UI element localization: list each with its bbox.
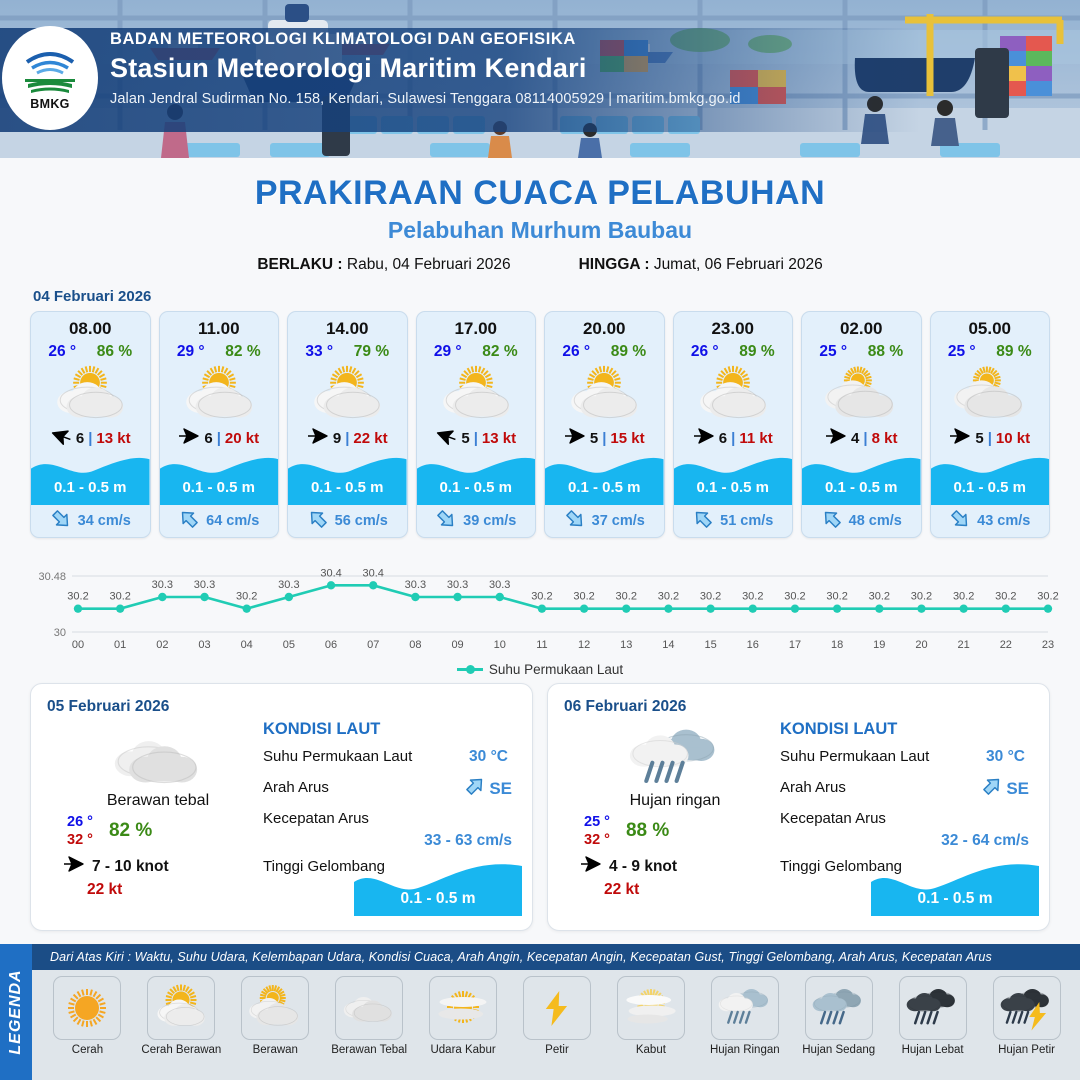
card-time: 11.00 — [160, 312, 279, 339]
daily-summary: Hujan ringan 25 ° 32 ° 88 % 4 - 9 knot 2… — [570, 728, 780, 899]
current-speed-value: 33 - 63 cm/s — [424, 832, 512, 850]
card-current: 37 cm/s — [545, 505, 664, 537]
legenda-item-label: Cerah — [72, 1044, 103, 1056]
svg-text:30.2: 30.2 — [236, 591, 257, 603]
wind-direction-icon — [307, 428, 329, 449]
current-speed-label: Kecepatan Arus — [780, 810, 886, 827]
legenda-item-label: Hujan Petir — [998, 1044, 1055, 1056]
current-direction-icon — [50, 508, 72, 535]
sst-value: 30 °C — [986, 748, 1025, 766]
svg-text:30.2: 30.2 — [573, 591, 594, 603]
current-direction-icon — [178, 508, 200, 535]
weather-icon-udara-kabur — [429, 976, 497, 1040]
card-temp-humidity: 26 ° 86 % — [31, 339, 150, 361]
sst-chart: 30.483030.20030.20130.30230.30330.20430.… — [20, 550, 1060, 660]
valid-from: BERLAKU : Rabu, 04 Februari 2026 — [257, 256, 510, 274]
legenda-item: Berawan — [230, 976, 321, 1056]
card-current: 48 cm/s — [802, 505, 921, 537]
wind-gust: 22 kt — [353, 430, 387, 447]
forecast-card: 11.00 29 ° 82 % 6 | 20 kt 0.1 - 0. — [159, 311, 280, 538]
current-direction-icon — [821, 508, 843, 535]
legenda-item: Hujan Lebat — [887, 976, 978, 1056]
card-time: 23.00 — [674, 312, 793, 339]
card-time: 08.00 — [31, 312, 150, 339]
daily-gust: 22 kt — [570, 881, 780, 899]
card-temp-humidity: 33 ° 79 % — [288, 339, 407, 361]
daily-panel: 05 Februari 2026 Berawan tebal 26 ° 32 °… — [30, 683, 533, 931]
weather-icon-cerah-berawan — [31, 361, 150, 423]
current-speed: 34 cm/s — [78, 513, 131, 529]
legenda-item: Hujan Ringan — [699, 976, 790, 1056]
svg-text:30.2: 30.2 — [742, 591, 763, 603]
card-temperature: 26 ° — [48, 343, 76, 361]
card-wave: 0.1 - 0.5 m — [31, 453, 150, 505]
wind-separator: | — [474, 430, 478, 447]
daily-wind-speed: 4 - 9 knot — [609, 858, 677, 876]
svg-text:23: 23 — [1042, 639, 1054, 651]
svg-text:30.2: 30.2 — [1037, 591, 1058, 603]
card-wave: 0.1 - 0.5 m — [417, 453, 536, 505]
card-humidity: 89 % — [739, 343, 774, 361]
weather-icon-berawan-tebal — [53, 728, 263, 786]
svg-text:30.48: 30.48 — [38, 571, 66, 583]
bmkg-logo-text: BMKG — [30, 97, 69, 111]
daily-date: 05 Februari 2026 — [47, 698, 516, 716]
legenda-item-label: Udara Kabur — [430, 1044, 495, 1056]
daily-wave-graphic: 0.1 - 0.5 m — [354, 862, 522, 916]
daily-wind: 4 - 9 knot — [570, 856, 780, 877]
wind-speed: 5 — [461, 430, 469, 447]
forecast-card: 05.00 25 ° 89 % 5 | 10 kt 0.1 - 0. — [930, 311, 1051, 538]
legenda-item: Petir — [512, 976, 603, 1056]
legenda-item: Cerah — [42, 976, 133, 1056]
wind-direction-icon — [178, 428, 200, 449]
current-speed-row: Kecepatan Arus 32 - 64 cm/s — [780, 810, 1035, 832]
current-direction-icon — [692, 508, 714, 535]
current-speed-value: 32 - 64 cm/s — [941, 832, 1029, 850]
weather-icon-cerah-berawan — [545, 361, 664, 423]
svg-text:30.2: 30.2 — [67, 591, 88, 603]
wind-speed: 6 — [204, 430, 212, 447]
legenda-item-label: Berawan — [253, 1044, 298, 1056]
daily-temp-max: 32 ° — [67, 832, 93, 848]
legenda-body: Dari Atas Kiri : Waktu, Suhu Udara, Kele… — [32, 944, 1080, 1080]
current-direction-row: Arah Arus SE — [263, 779, 518, 801]
daily-condition: Hujan ringan — [570, 792, 780, 810]
svg-text:12: 12 — [578, 639, 590, 651]
weather-icon-hujan-lebat — [899, 976, 967, 1040]
svg-text:30.2: 30.2 — [953, 591, 974, 603]
wind-separator: | — [731, 430, 735, 447]
legenda-item-label: Hujan Ringan — [710, 1044, 780, 1056]
svg-text:13: 13 — [620, 639, 632, 651]
card-humidity: 88 % — [868, 343, 903, 361]
weather-icon-cerah-berawan — [417, 361, 536, 423]
svg-text:07: 07 — [367, 639, 379, 651]
svg-text:30.3: 30.3 — [489, 579, 510, 591]
daily-wind: 7 - 10 knot — [53, 856, 263, 877]
sea-condition-block: KONDISI LAUT Suhu Permukaan Laut 30 °C A… — [263, 720, 518, 880]
current-direction-value-group: SE — [981, 775, 1029, 802]
svg-text:00: 00 — [72, 639, 84, 651]
legenda-item: Udara Kabur — [418, 976, 509, 1056]
svg-text:14: 14 — [662, 639, 674, 651]
wind-speed: 5 — [590, 430, 598, 447]
card-wind: 4 | 8 kt — [802, 423, 921, 453]
card-current: 39 cm/s — [417, 505, 536, 537]
legenda-item-label: Hujan Lebat — [902, 1044, 964, 1056]
wind-speed: 6 — [719, 430, 727, 447]
daily-temp-range: 25 ° 32 ° — [584, 814, 610, 848]
page-subtitle: Pelabuhan Murhum Baubau — [0, 217, 1080, 244]
wave-height: 0.1 - 0.5 m — [674, 479, 793, 496]
legenda-item: Berawan Tebal — [324, 976, 415, 1056]
forecast-card: 20.00 26 ° 89 % 5 | 15 kt 0.1 - 0. — [544, 311, 665, 538]
wind-speed: 4 — [851, 430, 859, 447]
daily-humidity: 82 % — [109, 820, 152, 842]
current-speed-label: Kecepatan Arus — [263, 810, 369, 827]
card-wave: 0.1 - 0.5 m — [931, 453, 1050, 505]
current-speed: 56 cm/s — [335, 513, 388, 529]
wind-gust: 8 kt — [872, 430, 898, 447]
daily-wave-graphic: 0.1 - 0.5 m — [871, 862, 1039, 916]
weather-icon-kabut — [617, 976, 685, 1040]
daily-panel-list: 05 Februari 2026 Berawan tebal 26 ° 32 °… — [0, 677, 1080, 931]
current-direction-icon — [949, 508, 971, 535]
daily-gust: 22 kt — [53, 881, 263, 899]
wind-speed: 5 — [975, 430, 983, 447]
card-wind: 5 | 13 kt — [417, 423, 536, 453]
daily-temp-min: 25 ° — [584, 814, 610, 830]
card-wind: 5 | 10 kt — [931, 423, 1050, 453]
sea-condition-title: KONDISI LAUT — [263, 720, 518, 739]
wind-gust: 13 kt — [482, 430, 516, 447]
svg-text:01: 01 — [114, 639, 126, 651]
wind-direction-icon — [63, 856, 85, 877]
wind-separator: | — [217, 430, 221, 447]
wind-gust: 11 kt — [739, 430, 772, 447]
daily-wave-value: 0.1 - 0.5 m — [354, 890, 522, 908]
card-temp-humidity: 25 ° 89 % — [931, 339, 1050, 361]
weather-icon-hujan-petir — [993, 976, 1061, 1040]
weather-icon-hujan-ringan — [570, 728, 780, 786]
title-block: PRAKIRAAN CUACA PELABUHAN Pelabuhan Murh… — [0, 174, 1080, 274]
card-wind: 6 | 11 kt — [674, 423, 793, 453]
sea-condition-block: KONDISI LAUT Suhu Permukaan Laut 30 °C A… — [780, 720, 1035, 880]
svg-text:16: 16 — [747, 639, 759, 651]
wind-separator: | — [863, 430, 867, 447]
card-temp-humidity: 29 ° 82 % — [160, 339, 279, 361]
card-humidity: 82 % — [482, 343, 517, 361]
card-temperature: 29 ° — [434, 343, 462, 361]
daily-temp-humidity: 26 ° 32 ° 82 % — [53, 814, 263, 848]
svg-text:30.2: 30.2 — [995, 591, 1016, 603]
agency-name: BADAN METEOROLOGI KLIMATOLOGI DAN GEOFIS… — [110, 30, 741, 49]
svg-text:30.3: 30.3 — [152, 579, 173, 591]
station-name: Stasiun Meteorologi Maritim Kendari — [110, 53, 741, 84]
current-direction-icon — [981, 775, 1003, 802]
page-header: BMKG BADAN METEOROLOGI KLIMATOLOGI DAN G… — [0, 0, 1080, 158]
sst-row: Suhu Permukaan Laut 30 °C — [780, 748, 1035, 770]
daily-date: 06 Februari 2026 — [564, 698, 1033, 716]
card-current: 64 cm/s — [160, 505, 279, 537]
card-temp-humidity: 26 ° 89 % — [545, 339, 664, 361]
svg-text:21: 21 — [958, 639, 970, 651]
card-time: 14.00 — [288, 312, 407, 339]
legenda-item: Hujan Sedang — [793, 976, 884, 1056]
forecast-card: 02.00 25 ° 88 % 4 | 8 kt 0.1 - 0.5 — [801, 311, 922, 538]
daily-wind-speed: 7 - 10 knot — [92, 858, 169, 876]
svg-text:30.2: 30.2 — [616, 591, 637, 603]
legenda-item: Cerah Berawan — [136, 976, 227, 1056]
svg-text:30.2: 30.2 — [869, 591, 890, 603]
current-direction-row: Arah Arus SE — [780, 779, 1035, 801]
svg-text:08: 08 — [409, 639, 421, 651]
daily-temp-range: 26 ° 32 ° — [67, 814, 93, 848]
svg-text:04: 04 — [241, 639, 253, 651]
weather-icon-berawan — [241, 976, 309, 1040]
card-wave: 0.1 - 0.5 m — [674, 453, 793, 505]
daily-temp-humidity: 25 ° 32 ° 88 % — [570, 814, 780, 848]
svg-text:05: 05 — [283, 639, 295, 651]
card-wind: 9 | 22 kt — [288, 423, 407, 453]
svg-text:03: 03 — [198, 639, 210, 651]
daily-humidity: 88 % — [626, 820, 669, 842]
bmkg-logo-mark — [21, 46, 79, 96]
svg-text:15: 15 — [704, 639, 716, 651]
current-direction-label: Arah Arus — [263, 779, 329, 796]
current-speed: 37 cm/s — [592, 513, 645, 529]
weather-icon-cerah-berawan — [160, 361, 279, 423]
daily-temp-min: 26 ° — [67, 814, 93, 830]
weather-icon-hujan-ringan — [711, 976, 779, 1040]
svg-text:18: 18 — [831, 639, 843, 651]
svg-text:20: 20 — [915, 639, 927, 651]
wind-separator: | — [345, 430, 349, 447]
weather-icon-cerah — [53, 976, 121, 1040]
wind-speed: 9 — [333, 430, 341, 447]
forecast-card-list: 08.00 26 ° 86 % 6 | 13 kt 0.1 - 0. — [0, 311, 1080, 538]
sea-condition-title: KONDISI LAUT — [780, 720, 1035, 739]
current-direction-icon — [435, 508, 457, 535]
card-wave: 0.1 - 0.5 m — [288, 453, 407, 505]
wave-height: 0.1 - 0.5 m — [931, 479, 1050, 496]
current-speed: 64 cm/s — [206, 513, 259, 529]
card-wind: 6 | 13 kt — [31, 423, 150, 453]
sst-label: Suhu Permukaan Laut — [780, 748, 929, 765]
current-direction-value: SE — [1006, 779, 1029, 799]
weather-icon-berawan — [802, 361, 921, 423]
legenda-item-label: Kabut — [636, 1044, 666, 1056]
card-current: 43 cm/s — [931, 505, 1050, 537]
svg-text:30.2: 30.2 — [109, 591, 130, 603]
current-speed: 43 cm/s — [977, 513, 1030, 529]
wave-height: 0.1 - 0.5 m — [160, 479, 279, 496]
wind-gust: 10 kt — [996, 430, 1030, 447]
legenda-title: LEGENDA — [7, 969, 25, 1054]
svg-text:17: 17 — [789, 639, 801, 651]
sst-row: Suhu Permukaan Laut 30 °C — [263, 748, 518, 770]
sst-label: Suhu Permukaan Laut — [263, 748, 412, 765]
weather-icon-cerah-berawan — [147, 976, 215, 1040]
svg-text:30.2: 30.2 — [826, 591, 847, 603]
wave-height: 0.1 - 0.5 m — [417, 479, 536, 496]
svg-text:30.2: 30.2 — [531, 591, 552, 603]
wind-direction-icon — [949, 428, 971, 449]
wave-height: 0.1 - 0.5 m — [545, 479, 664, 496]
current-direction-icon — [464, 775, 486, 802]
legenda-strip: LEGENDA — [0, 944, 32, 1080]
svg-text:30.3: 30.3 — [278, 579, 299, 591]
card-temp-humidity: 29 ° 82 % — [417, 339, 536, 361]
legenda-note: Dari Atas Kiri : Waktu, Suhu Udara, Kele… — [32, 944, 1080, 970]
header-text-block: BADAN METEOROLOGI KLIMATOLOGI DAN GEOFIS… — [110, 30, 741, 107]
card-temperature: 25 ° — [819, 343, 847, 361]
card-wave: 0.1 - 0.5 m — [160, 453, 279, 505]
card-wind: 6 | 20 kt — [160, 423, 279, 453]
valid-to-value: Jumat, 06 Februari 2026 — [654, 256, 823, 273]
card-humidity: 89 % — [611, 343, 646, 361]
weather-icon-petir — [523, 976, 591, 1040]
card-temperature: 25 ° — [948, 343, 976, 361]
wind-gust: 15 kt — [610, 430, 644, 447]
card-current: 51 cm/s — [674, 505, 793, 537]
svg-text:30.2: 30.2 — [658, 591, 679, 603]
current-speed: 48 cm/s — [849, 513, 902, 529]
card-time: 20.00 — [545, 312, 664, 339]
wind-gust: 13 kt — [96, 430, 130, 447]
weather-icon-berawan-tebal — [335, 976, 403, 1040]
wind-gust: 20 kt — [225, 430, 259, 447]
forecast-card: 08.00 26 ° 86 % 6 | 13 kt 0.1 - 0. — [30, 311, 151, 538]
validity-row: BERLAKU : Rabu, 04 Februari 2026 HINGGA … — [0, 256, 1080, 274]
svg-text:11: 11 — [536, 639, 547, 651]
wind-separator: | — [88, 430, 92, 447]
svg-text:30.4: 30.4 — [363, 567, 384, 579]
svg-text:30.2: 30.2 — [700, 591, 721, 603]
daily-condition: Berawan tebal — [53, 792, 263, 810]
svg-text:30.3: 30.3 — [405, 579, 426, 591]
current-direction-value: SE — [489, 779, 512, 799]
legenda-item: Hujan Petir — [981, 976, 1072, 1056]
current-direction-value-group: SE — [464, 775, 512, 802]
valid-to-label: HINGGA : — [579, 256, 650, 273]
sst-chart-svg: 30.483030.20030.20130.30230.30330.20430.… — [20, 550, 1060, 660]
wind-direction-icon — [693, 428, 715, 449]
svg-text:06: 06 — [325, 639, 337, 651]
svg-text:02: 02 — [156, 639, 168, 651]
wind-speed: 6 — [76, 430, 84, 447]
svg-text:30.4: 30.4 — [320, 567, 341, 579]
weather-icon-cerah-berawan — [288, 361, 407, 423]
svg-text:09: 09 — [451, 639, 463, 651]
wind-separator: | — [602, 430, 606, 447]
card-current: 56 cm/s — [288, 505, 407, 537]
wave-height: 0.1 - 0.5 m — [31, 479, 150, 496]
svg-text:22: 22 — [1000, 639, 1012, 651]
card-humidity: 82 % — [225, 343, 260, 361]
card-wind: 5 | 15 kt — [545, 423, 664, 453]
legenda-item-label: Petir — [545, 1044, 569, 1056]
card-time: 05.00 — [931, 312, 1050, 339]
legenda-item-label: Hujan Sedang — [802, 1044, 875, 1056]
wave-height: 0.1 - 0.5 m — [802, 479, 921, 496]
card-humidity: 79 % — [354, 343, 389, 361]
card-time: 17.00 — [417, 312, 536, 339]
forecast-card: 14.00 33 ° 79 % 9 | 22 kt 0.1 - 0. — [287, 311, 408, 538]
chart-legend-label: Suhu Permukaan Laut — [489, 662, 623, 677]
wind-direction-icon — [825, 428, 847, 449]
card-wave: 0.1 - 0.5 m — [545, 453, 664, 505]
daily-panel: 06 Februari 2026 Hujan ringan 25 ° 32 ° … — [547, 683, 1050, 931]
card-humidity: 89 % — [996, 343, 1031, 361]
weather-icon-cerah-berawan — [674, 361, 793, 423]
svg-text:30.3: 30.3 — [194, 579, 215, 591]
valid-from-label: BERLAKU : — [257, 256, 342, 273]
legenda-item-label: Berawan Tebal — [331, 1044, 407, 1056]
sst-value: 30 °C — [469, 748, 508, 766]
card-temp-humidity: 25 ° 88 % — [802, 339, 921, 361]
card-temperature: 33 ° — [305, 343, 333, 361]
card-time: 02.00 — [802, 312, 921, 339]
forecast-card: 23.00 26 ° 89 % 6 | 11 kt 0.1 - 0. — [673, 311, 794, 538]
legenda-item: Kabut — [605, 976, 696, 1056]
svg-text:30.2: 30.2 — [784, 591, 805, 603]
svg-text:30.2: 30.2 — [911, 591, 932, 603]
current-speed-row: Kecepatan Arus 33 - 63 cm/s — [263, 810, 518, 832]
bmkg-logo: BMKG — [2, 26, 98, 130]
card-humidity: 86 % — [97, 343, 132, 361]
card-temp-humidity: 26 ° 89 % — [674, 339, 793, 361]
valid-from-value: Rabu, 04 Februari 2026 — [347, 256, 511, 273]
svg-text:30: 30 — [54, 627, 66, 639]
daily-wave-value: 0.1 - 0.5 m — [871, 890, 1039, 908]
wind-direction-icon — [50, 428, 72, 449]
weather-icon-berawan — [931, 361, 1050, 423]
daily-summary: Berawan tebal 26 ° 32 ° 82 % 7 - 10 knot… — [53, 728, 263, 899]
forecast-date-label: 04 Februari 2026 — [33, 288, 1080, 305]
card-temperature: 29 ° — [177, 343, 205, 361]
wind-direction-icon — [435, 428, 457, 449]
legenda-item-label: Cerah Berawan — [141, 1044, 221, 1056]
wind-direction-icon — [564, 428, 586, 449]
legenda-item-list: Cerah Cerah Berawan Berawan — [32, 970, 1080, 1056]
forecast-card: 17.00 29 ° 82 % 5 | 13 kt 0.1 - 0. — [416, 311, 537, 538]
chart-legend-marker-icon — [457, 668, 483, 671]
current-speed: 51 cm/s — [720, 513, 773, 529]
page-title: PRAKIRAAN CUACA PELABUHAN — [0, 174, 1080, 213]
current-speed: 39 cm/s — [463, 513, 516, 529]
station-address: Jalan Jendral Sudirman No. 158, Kendari,… — [110, 91, 741, 107]
current-direction-icon — [307, 508, 329, 535]
svg-text:30.3: 30.3 — [447, 579, 468, 591]
current-direction-label: Arah Arus — [780, 779, 846, 796]
card-current: 34 cm/s — [31, 505, 150, 537]
card-temperature: 26 ° — [562, 343, 590, 361]
daily-temp-max: 32 ° — [584, 832, 610, 848]
chart-legend: Suhu Permukaan Laut — [0, 662, 1080, 677]
valid-to: HINGGA : Jumat, 06 Februari 2026 — [579, 256, 823, 274]
wind-separator: | — [988, 430, 992, 447]
svg-text:19: 19 — [873, 639, 885, 651]
svg-text:10: 10 — [494, 639, 506, 651]
card-temperature: 26 ° — [691, 343, 719, 361]
card-wave: 0.1 - 0.5 m — [802, 453, 921, 505]
wind-direction-icon — [580, 856, 602, 877]
weather-icon-hujan-sedang — [805, 976, 873, 1040]
legenda-section: LEGENDA Dari Atas Kiri : Waktu, Suhu Uda… — [0, 944, 1080, 1080]
current-direction-icon — [564, 508, 586, 535]
